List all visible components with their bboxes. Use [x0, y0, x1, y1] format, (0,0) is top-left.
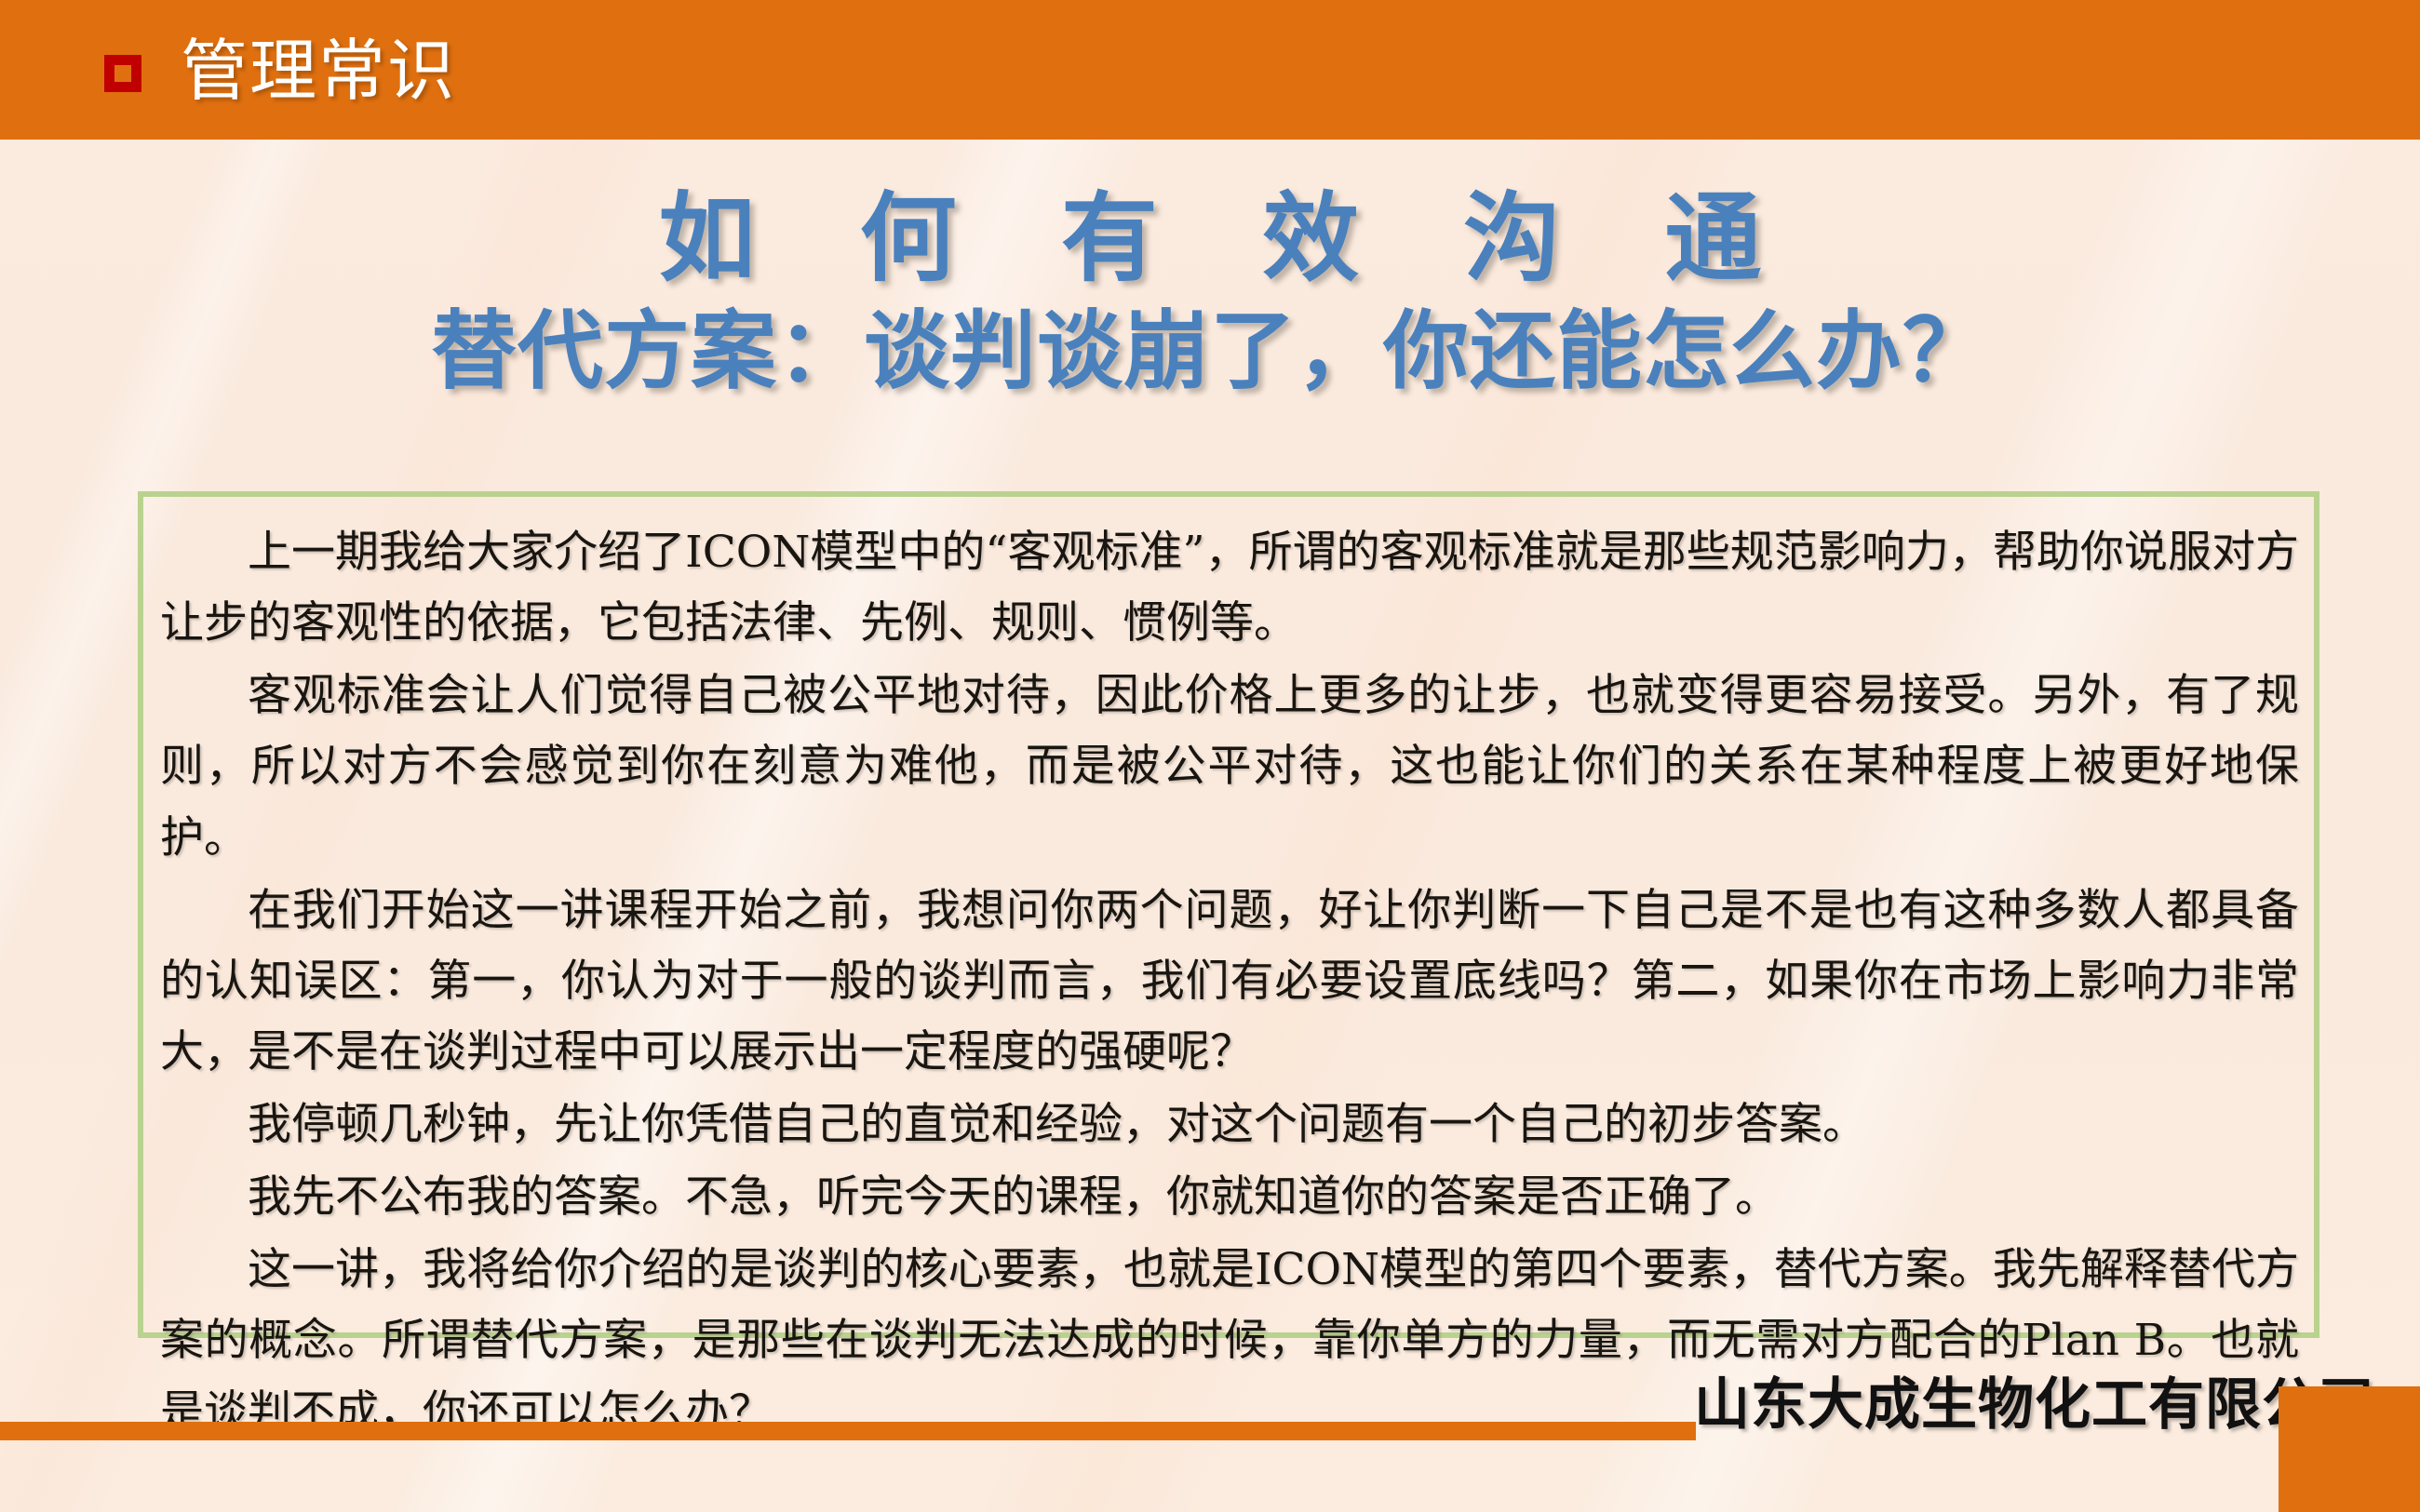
body-paragraph: 客观标准会让人们觉得自己被公平地对待，因此价格上更多的让步，也就变得更容易接受。…	[160, 661, 2299, 873]
square-bullet-icon	[104, 55, 141, 92]
header-bar: 管理常识	[0, 0, 2420, 140]
footer-rule	[0, 1422, 1696, 1440]
body-paragraph: 我停顿几秒钟，先让你凭借自己的直觉和经验，对这个问题有一个自己的初步答案。	[160, 1090, 2299, 1160]
body-paragraph: 上一期我给大家介绍了ICON模型中的“客观标准”，所谓的客观标准就是那些规范影响…	[160, 517, 2299, 659]
slide-root: 管理常识 如 何 有 效 沟 通 替代方案：谈判谈崩了，你还能怎么办？ 上一期我…	[0, 0, 2420, 1512]
body-paragraph: 我先不公布我的答案。不急，听完今天的课程，你就知道你的答案是否正确了。	[160, 1162, 2299, 1233]
content-box: 上一期我给大家介绍了ICON模型中的“客观标准”，所谓的客观标准就是那些规范影响…	[138, 491, 2319, 1338]
page-subtitle: 替代方案：谈判谈崩了，你还能怎么办？	[0, 299, 2420, 403]
header-title: 管理常识	[181, 38, 456, 105]
page-title: 如 何 有 效 沟 通	[0, 182, 2420, 295]
body-paragraph: 在我们开始这一讲课程开始之前，我想问你两个问题，好让你判断一下自己是不是也有这种…	[160, 876, 2299, 1088]
footer-company-name: 山东大成生物化工有限公司	[1694, 1377, 2308, 1433]
title-block: 如 何 有 效 沟 通 替代方案：谈判谈崩了，你还能怎么办？	[0, 182, 2420, 403]
footer-accent-block	[2279, 1386, 2420, 1512]
